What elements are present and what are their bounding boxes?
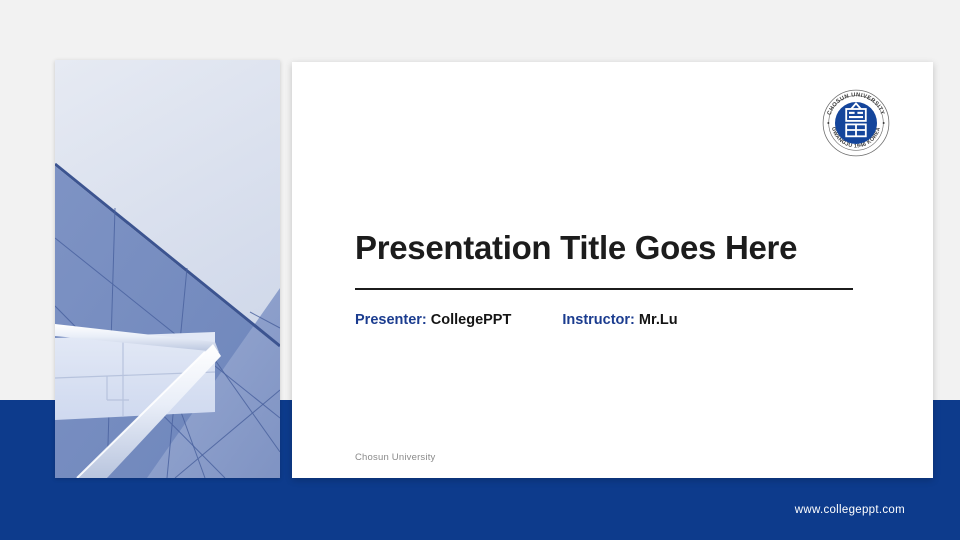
slide-canvas: www.collegeppt.com: [0, 0, 960, 540]
slide-card: CHOSUN UNIVERSITY GWANGJU 1946 KOREA: [292, 62, 933, 478]
seal-graphic: CHOSUN UNIVERSITY GWANGJU 1946 KOREA: [821, 88, 891, 158]
building-facade-illustration: [55, 60, 280, 478]
instructor-slot: Instructor: Mr.Lu: [562, 312, 677, 328]
instructor-value: Mr.Lu: [639, 312, 678, 328]
slide-footnote: Chosun University: [355, 452, 436, 463]
page-title: Presentation Title Goes Here: [355, 229, 875, 267]
title-divider: [355, 288, 853, 290]
footer-url[interactable]: www.collegeppt.com: [795, 504, 905, 516]
cover-photo: [55, 60, 280, 478]
presenter-label: Presenter:: [355, 312, 427, 328]
instructor-label: Instructor:: [562, 312, 635, 328]
presentation-meta: Presenter: CollegePPT Instructor: Mr.Lu: [355, 312, 678, 328]
presenter-value: CollegePPT: [431, 312, 512, 328]
presenter-slot: Presenter: CollegePPT: [355, 312, 511, 328]
chosun-university-seal-icon: CHOSUN UNIVERSITY GWANGJU 1946 KOREA: [821, 88, 891, 158]
